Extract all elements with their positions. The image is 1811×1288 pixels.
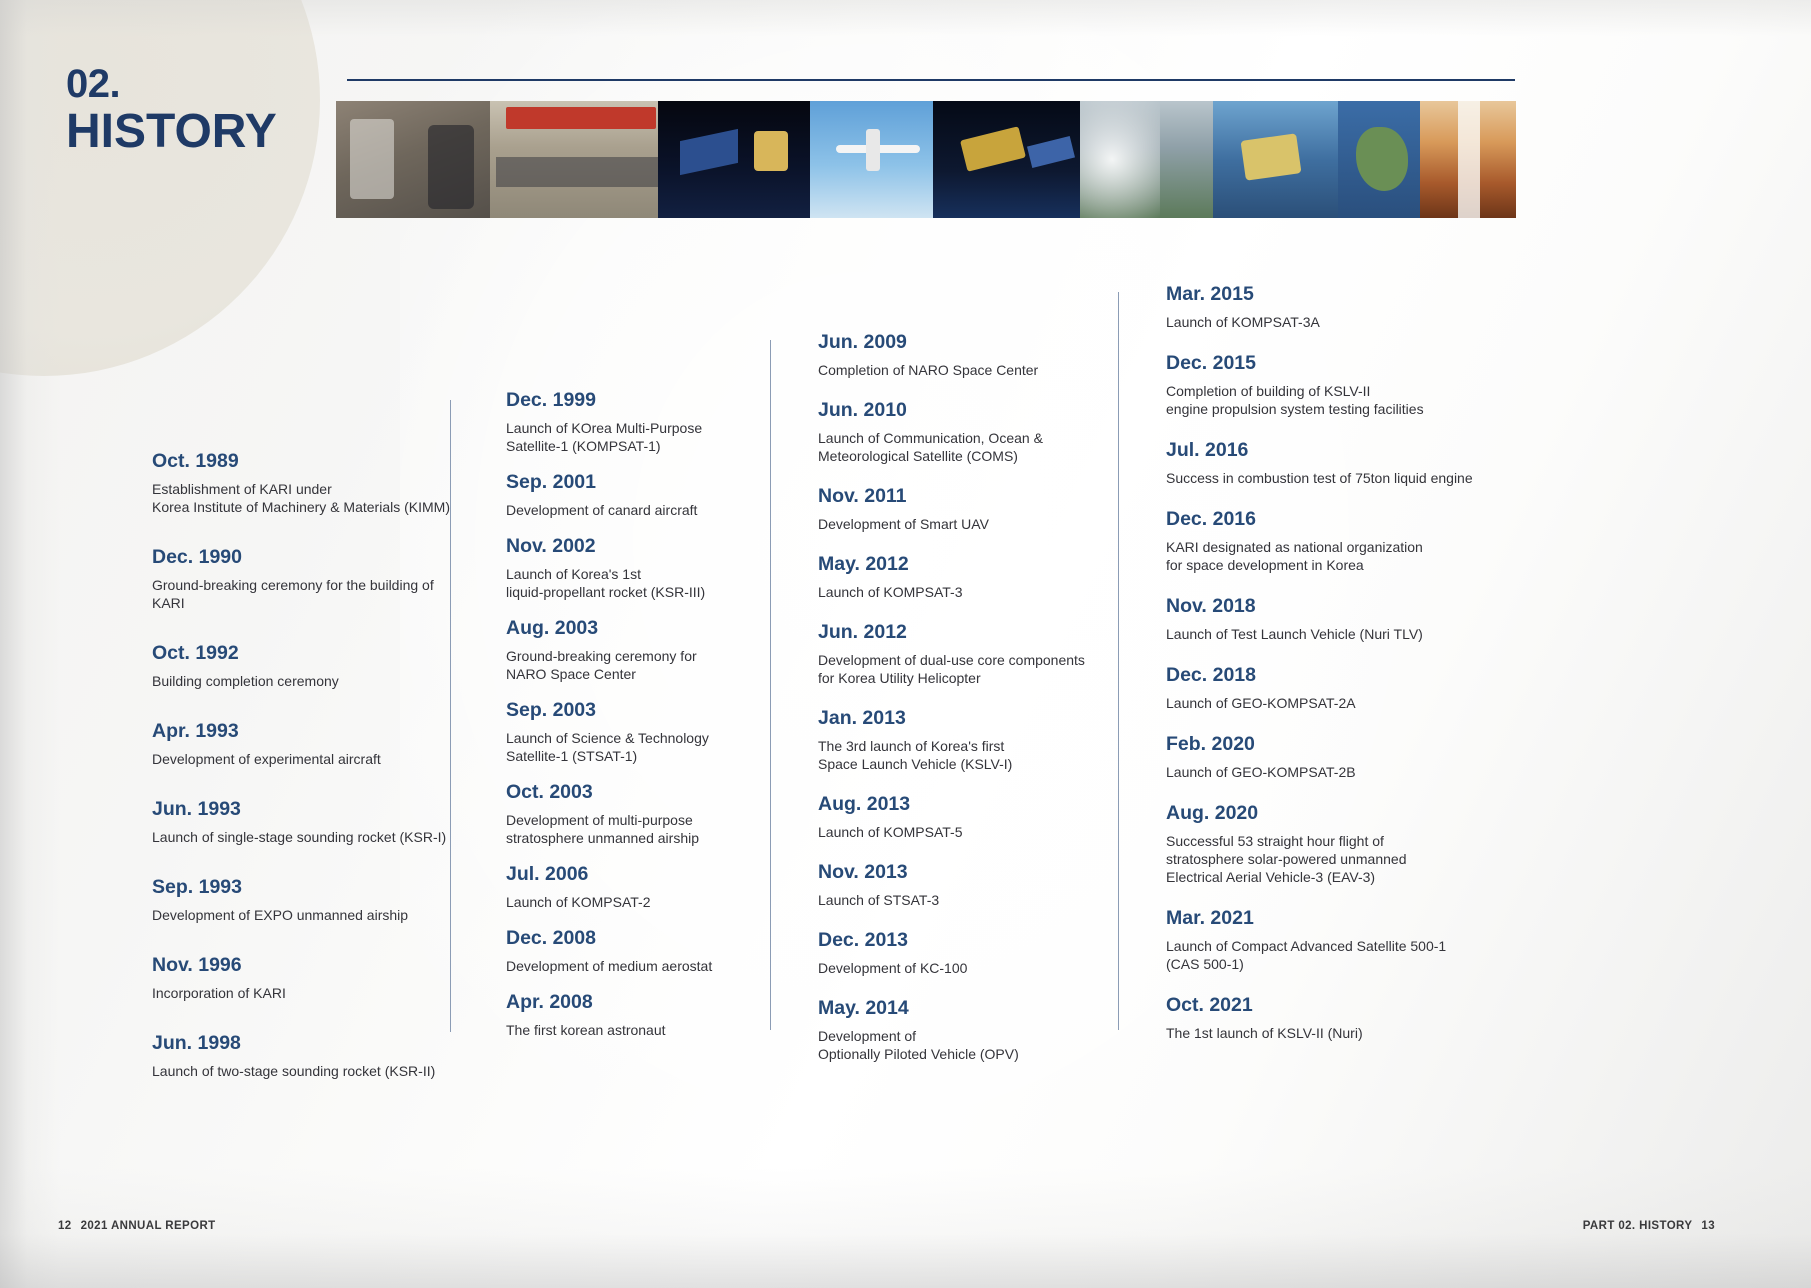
timeline-entry-date: Jun. 1993 xyxy=(152,798,452,821)
timeline-entry-description: Launch of KOrea Multi-Purpose Satellite-… xyxy=(506,419,751,455)
timeline-entry: Nov. 2011Development of Smart UAV xyxy=(818,485,1093,533)
timeline-entry-date: Oct. 2003 xyxy=(506,781,751,804)
timeline-entry-description: Launch of Science & Technology Satellite… xyxy=(506,729,751,765)
header-divider-rule xyxy=(347,79,1515,81)
timeline-entry-description: Ground-breaking ceremony for NARO Space … xyxy=(506,647,751,683)
timeline-entry-date: Dec. 2016 xyxy=(1166,508,1486,531)
timeline-entry: May. 2014Development of Optionally Pilot… xyxy=(818,997,1093,1063)
timeline-entry-description: The first korean astronaut xyxy=(506,1021,751,1039)
timeline-entry: Nov. 2013Launch of STSAT-3 xyxy=(818,861,1093,909)
timeline-entry-date: Mar. 2021 xyxy=(1166,907,1486,930)
timeline-entry-date: Sep. 2003 xyxy=(506,699,751,722)
timeline-entry: Jun. 1993Launch of single-stage sounding… xyxy=(152,798,452,846)
footer-right: PART 02. HISTORY 13 xyxy=(1583,1220,1715,1232)
timeline-entry-date: May. 2012 xyxy=(818,553,1093,576)
timeline-entry-date: Oct. 1992 xyxy=(152,642,452,665)
photo-strip xyxy=(336,101,1516,218)
timeline-entry-date: Oct. 2021 xyxy=(1166,994,1486,1017)
timeline-entry-date: May. 2014 xyxy=(818,997,1093,1020)
timeline-entry-date: Mar. 2015 xyxy=(1166,283,1486,306)
photo-satellite-over-earth xyxy=(933,101,1080,218)
page-title: HISTORY xyxy=(66,104,277,159)
timeline-entry-description: Launch of single-stage sounding rocket (… xyxy=(152,828,452,846)
timeline-entry-description: Launch of Communication, Ocean & Meteoro… xyxy=(818,429,1093,465)
footer-left-label: 2021 ANNUAL REPORT xyxy=(81,1220,216,1232)
timeline-entry: Jun. 2009Completion of NARO Space Center xyxy=(818,331,1093,379)
timeline-entry: Aug. 2013Launch of KOMPSAT-5 xyxy=(818,793,1093,841)
footer-left-page-number: 12 xyxy=(58,1220,72,1232)
timeline-entry-date: Nov. 1996 xyxy=(152,954,452,977)
timeline-entry-date: Jun. 1998 xyxy=(152,1032,452,1055)
timeline-entry: Sep. 2001Development of canard aircraft xyxy=(506,471,751,519)
timeline-entry-date: Dec. 2015 xyxy=(1166,352,1486,375)
timeline-entry: Dec. 2013Development of KC-100 xyxy=(818,929,1093,977)
timeline-entry-date: Jun. 2009 xyxy=(818,331,1093,354)
timeline-entry-description: Development of Smart UAV xyxy=(818,515,1093,533)
timeline-entry-description: Launch of STSAT-3 xyxy=(818,891,1093,909)
footer-left: 12 2021 ANNUAL REPORT xyxy=(58,1220,216,1232)
timeline-column-3: Jun. 2009Completion of NARO Space Center… xyxy=(818,331,1093,1083)
timeline-entry: Dec. 2016KARI designated as national org… xyxy=(1166,508,1486,574)
timeline-entry-date: Nov. 2011 xyxy=(818,485,1093,508)
timeline-entry: Mar. 2021Launch of Compact Advanced Sate… xyxy=(1166,907,1486,973)
footer-right-label: PART 02. HISTORY xyxy=(1583,1220,1693,1232)
timeline-entry: Jun. 2012Development of dual-use core co… xyxy=(818,621,1093,687)
photo-satellite-over-korea xyxy=(1213,101,1338,218)
timeline-entry-date: Jan. 2013 xyxy=(818,707,1093,730)
timeline-entry-date: Jun. 2012 xyxy=(818,621,1093,644)
timeline-entry: Sep. 1993Development of EXPO unmanned ai… xyxy=(152,876,452,924)
timeline-entry-description: Completion of building of KSLV-II engine… xyxy=(1166,382,1486,418)
timeline-entry-description: Development of EXPO unmanned airship xyxy=(152,906,452,924)
timeline-entry: Nov. 2002Launch of Korea's 1st liquid-pr… xyxy=(506,535,751,601)
timeline-entry-description: Launch of Korea's 1st liquid-propellant … xyxy=(506,565,751,601)
timeline-entry-description: Development of multi-purpose stratospher… xyxy=(506,811,751,847)
timeline-column-4: Mar. 2015Launch of KOMPSAT-3ADec. 2015Co… xyxy=(1166,283,1486,1063)
timeline-entry-description: Ground-breaking ceremony for the buildin… xyxy=(152,576,452,612)
timeline-entry-date: Dec. 1990 xyxy=(152,546,452,569)
timeline-entry: Dec. 2008Development of medium aerostat xyxy=(506,927,751,975)
timeline-entry-date: Dec. 2008 xyxy=(506,927,751,950)
timeline-entry: Apr. 2008The first korean astronaut xyxy=(506,991,751,1039)
timeline-entry-description: Development of Optionally Piloted Vehicl… xyxy=(818,1027,1093,1063)
timeline-entry: Dec. 2015Completion of building of KSLV-… xyxy=(1166,352,1486,418)
timeline-entry-description: KARI designated as national organization… xyxy=(1166,538,1486,574)
timeline-entry: Feb. 2020Launch of GEO-KOMPSAT-2B xyxy=(1166,733,1486,781)
timeline-entry-date: Nov. 2002 xyxy=(506,535,751,558)
timeline-entry-description: Launch of KOMPSAT-3 xyxy=(818,583,1093,601)
timeline-entry: Aug. 2020Successful 53 straight hour fli… xyxy=(1166,802,1486,886)
timeline-entry-date: Dec. 2013 xyxy=(818,929,1093,952)
timeline-entry: Nov. 1996Incorporation of KARI xyxy=(152,954,452,1002)
timeline-entry-description: Launch of KOMPSAT-5 xyxy=(818,823,1093,841)
timeline-entry-description: Launch of GEO-KOMPSAT-2A xyxy=(1166,694,1486,712)
timeline-entry: Jun. 2010Launch of Communication, Ocean … xyxy=(818,399,1093,465)
page-vignette-bottom xyxy=(0,1168,1811,1288)
timeline-entry: Jun. 1998Launch of two-stage sounding ro… xyxy=(152,1032,452,1080)
timeline-entry-date: Sep. 2001 xyxy=(506,471,751,494)
timeline-entry-description: Development of dual-use core components … xyxy=(818,651,1093,687)
section-number: 02. xyxy=(66,62,120,107)
timeline-entry: Mar. 2015Launch of KOMPSAT-3A xyxy=(1166,283,1486,331)
timeline-entry-description: Launch of KOMPSAT-3A xyxy=(1166,313,1486,331)
timeline-entry-description: Launch of Test Launch Vehicle (Nuri TLV) xyxy=(1166,625,1486,643)
timeline-entry: Jul. 2006Launch of KOMPSAT-2 xyxy=(506,863,751,911)
photo-rocket-liftoff-flames xyxy=(1420,101,1516,218)
timeline-entry-date: Feb. 2020 xyxy=(1166,733,1486,756)
timeline-entry-description: Incorporation of KARI xyxy=(152,984,452,1002)
timeline-entry: Oct. 1989Establishment of KARI under Kor… xyxy=(152,450,452,516)
timeline-entry: Nov. 2018Launch of Test Launch Vehicle (… xyxy=(1166,595,1486,643)
photo-light-aircraft-in-flight xyxy=(810,101,933,218)
photo-groundbreaking-banner-ceremony xyxy=(490,101,657,218)
timeline-entry-date: Apr. 1993 xyxy=(152,720,452,743)
timeline-entry: Oct. 1992Building completion ceremony xyxy=(152,642,452,690)
timeline-entry-description: Launch of Compact Advanced Satellite 500… xyxy=(1166,937,1486,973)
timeline-entry-date: Aug. 2013 xyxy=(818,793,1093,816)
timeline-column-2: Dec. 1999Launch of KOrea Multi-Purpose S… xyxy=(506,389,751,1055)
photo-satellite-in-orbit xyxy=(658,101,811,218)
timeline-entry-description: Development of experimental aircraft xyxy=(152,750,452,768)
timeline-entry-date: Jul. 2006 xyxy=(506,863,751,886)
timeline-entry-description: Successful 53 straight hour flight of st… xyxy=(1166,832,1486,886)
timeline-entry: Aug. 2003Ground-breaking ceremony for NA… xyxy=(506,617,751,683)
timeline-entry: Sep. 2003Launch of Science & Technology … xyxy=(506,699,751,765)
timeline-entry-description: Development of medium aerostat xyxy=(506,957,751,975)
timeline-entry: Dec. 2018Launch of GEO-KOMPSAT-2A xyxy=(1166,664,1486,712)
timeline-entry: Dec. 1990Ground-breaking ceremony for th… xyxy=(152,546,452,612)
timeline-entry-description: Launch of KOMPSAT-2 xyxy=(506,893,751,911)
timeline-entry-description: Launch of two-stage sounding rocket (KSR… xyxy=(152,1062,452,1080)
timeline-entry-description: Building completion ceremony xyxy=(152,672,452,690)
title-background-blob xyxy=(0,0,320,376)
timeline-entry-description: Establishment of KARI under Korea Instit… xyxy=(152,480,452,516)
timeline-entry-date: Nov. 2018 xyxy=(1166,595,1486,618)
photo-geo-satellite xyxy=(1338,101,1421,218)
timeline-entry: Oct. 2003Development of multi-purpose st… xyxy=(506,781,751,847)
timeline-entry-date: Oct. 1989 xyxy=(152,450,452,473)
timeline-entry-date: Sep. 1993 xyxy=(152,876,452,899)
timeline-entry: Jul. 2016Success in combustion test of 7… xyxy=(1166,439,1486,487)
timeline-entry-description: Launch of GEO-KOMPSAT-2B xyxy=(1166,763,1486,781)
timeline-entry-date: Jul. 2016 xyxy=(1166,439,1486,462)
timeline-entry-date: Aug. 2020 xyxy=(1166,802,1486,825)
timeline-entry: Oct. 2021The 1st launch of KSLV-II (Nuri… xyxy=(1166,994,1486,1042)
column-divider-2 xyxy=(770,340,771,1030)
timeline-entry-description: Development of KC-100 xyxy=(818,959,1093,977)
timeline-entry-date: Nov. 2013 xyxy=(818,861,1093,884)
timeline-entry-description: Development of canard aircraft xyxy=(506,501,751,519)
timeline-entry-date: Dec. 2018 xyxy=(1166,664,1486,687)
photo-rocket-launch-smoke xyxy=(1080,101,1212,218)
history-spread-page: 02. HISTORY Oct. 1989Establishment of KA… xyxy=(0,0,1811,1288)
timeline-entry: Dec. 1999Launch of KOrea Multi-Purpose S… xyxy=(506,389,751,455)
timeline-entry-date: Aug. 2003 xyxy=(506,617,751,640)
timeline-entry-date: Jun. 2010 xyxy=(818,399,1093,422)
footer-right-page-number: 13 xyxy=(1701,1220,1715,1232)
timeline-entry: May. 2012Launch of KOMPSAT-3 xyxy=(818,553,1093,601)
timeline-column-1: Oct. 1989Establishment of KARI under Kor… xyxy=(152,450,452,1110)
timeline-entry: Jan. 2013The 3rd launch of Korea's first… xyxy=(818,707,1093,773)
timeline-entry: Apr. 1993Development of experimental air… xyxy=(152,720,452,768)
timeline-entry-description: Completion of NARO Space Center xyxy=(818,361,1093,379)
timeline-entry-description: Success in combustion test of 75ton liqu… xyxy=(1166,469,1486,487)
timeline-entry-date: Dec. 1999 xyxy=(506,389,751,412)
photo-kari-plaque-ceremony xyxy=(336,101,490,218)
timeline-entry-description: The 1st launch of KSLV-II (Nuri) xyxy=(1166,1024,1486,1042)
timeline-entry-description: The 3rd launch of Korea's first Space La… xyxy=(818,737,1093,773)
column-divider-3 xyxy=(1118,292,1119,1030)
timeline-entry-date: Apr. 2008 xyxy=(506,991,751,1014)
